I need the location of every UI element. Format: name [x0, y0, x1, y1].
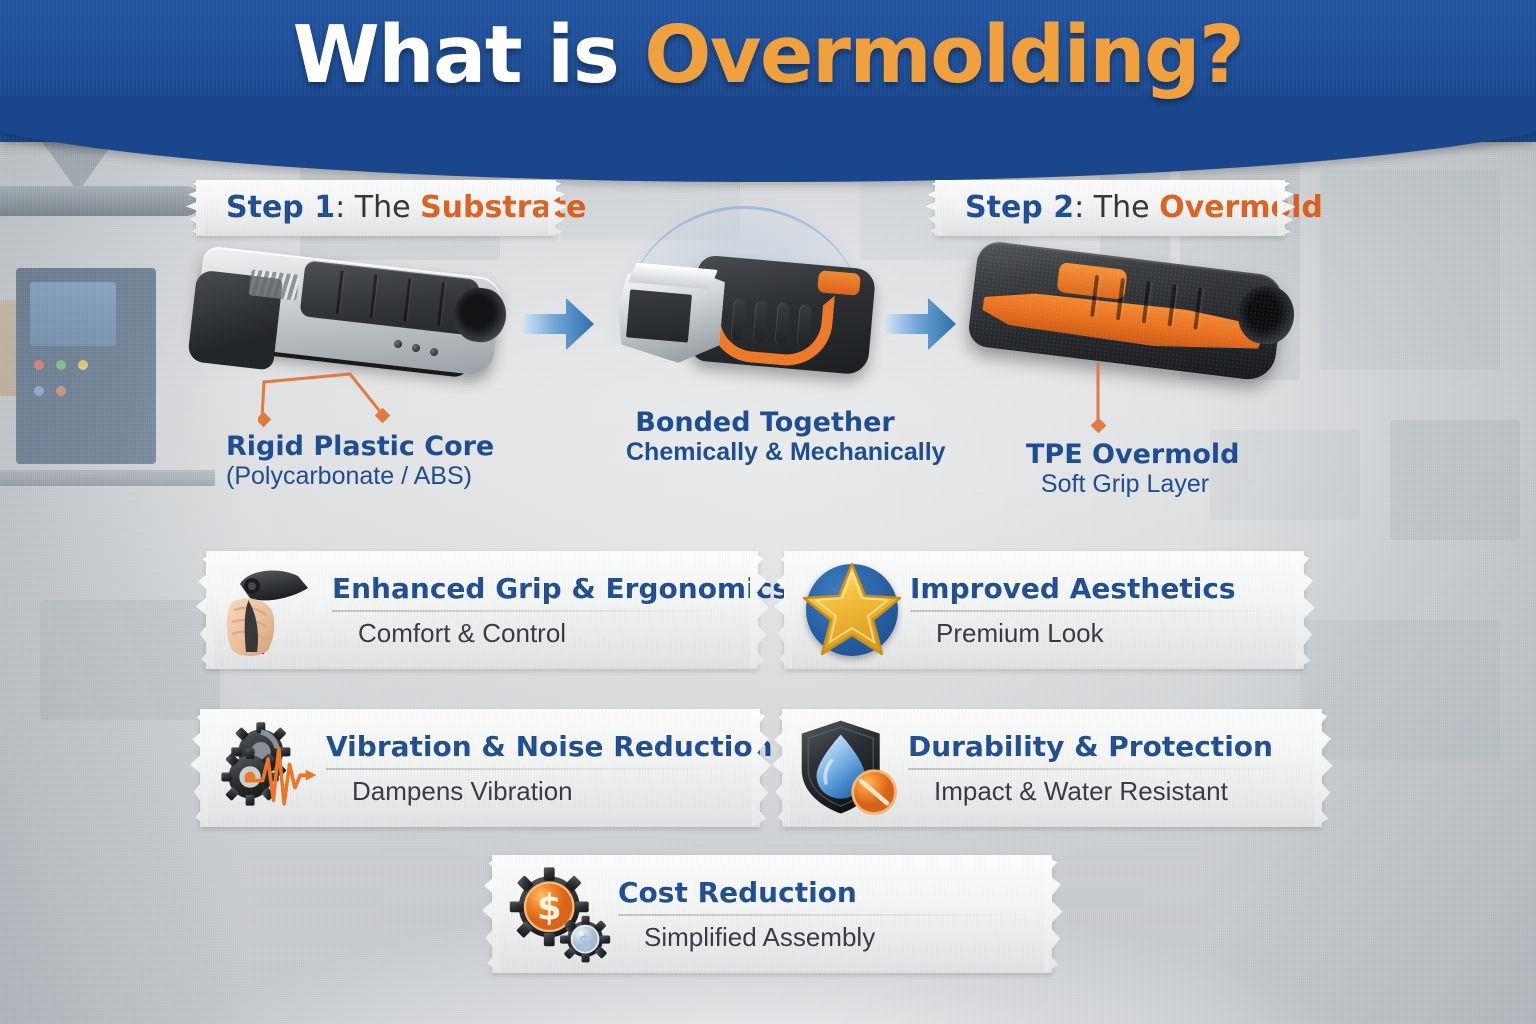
divider [326, 768, 736, 770]
title-part-white: What is [293, 9, 645, 101]
svg-text:$: $ [578, 930, 592, 954]
step-2-header: Step 2: The Overmold [935, 180, 1285, 236]
benefit-card-durability[interactable]: Durability & Protection Impact & Water R… [782, 709, 1322, 827]
benefit-durability-title: Durability & Protection [908, 730, 1298, 763]
overmold-caption: TPE Overmold Soft Grip Layer [1000, 432, 1250, 512]
step-2-number: Step 2 [965, 190, 1074, 225]
step-2-keyword: Overmold [1159, 190, 1323, 225]
benefit-vibration-subtitle: Dampens Vibration [326, 776, 736, 807]
bonded-caption: Bonded Together Chemically & Mechanicall… [600, 400, 930, 480]
substrate-caption-line1: Rigid Plastic Core [226, 432, 464, 462]
step-1-keyword: Substrate [420, 190, 586, 225]
benefit-grip-title: Enhanced Grip & Ergonomics [332, 572, 734, 605]
overmold-caption-line2: Soft Grip Layer [1026, 470, 1224, 500]
bonded-caption-line2: Chemically & Mechanically [626, 438, 904, 468]
step-1-header: Step 1: The Substrate [196, 180, 556, 236]
benefit-grip-subtitle: Comfort & Control [332, 618, 734, 649]
substrate-caption-line2: (Polycarbonate / ABS) [226, 462, 464, 492]
benefit-cost-subtitle: Simplified Assembly [618, 922, 1028, 953]
shield-droplet-icon [798, 716, 902, 820]
benefit-card-grip[interactable]: Enhanced Grip & Ergonomics Comfort & Con… [206, 551, 758, 669]
title-part-orange: Overmolding? [644, 9, 1243, 101]
benefit-card-aesthetics[interactable]: Improved Aesthetics Premium Look [784, 551, 1304, 669]
benefit-cost-title: Cost Reduction [618, 876, 1028, 909]
divider [910, 610, 1280, 612]
step-1-number: Step 1 [226, 190, 335, 225]
benefit-card-vibration[interactable]: Vibration & Noise Reduction Dampens Vibr… [200, 709, 760, 827]
star-icon [800, 558, 904, 662]
benefit-card-cost[interactable]: $ $ [492, 855, 1052, 973]
divider [908, 768, 1298, 770]
benefit-vibration-title: Vibration & Noise Reduction [326, 730, 736, 763]
hand-grip-icon [222, 558, 326, 662]
bonded-product-image [612, 246, 892, 382]
bonded-caption-line1: Bonded Together [626, 408, 904, 438]
divider [618, 914, 1028, 916]
gear-waveform-icon [216, 716, 320, 820]
page-title: What is Overmolding? [0, 14, 1536, 97]
svg-text:$: $ [537, 887, 562, 928]
substrate-caption: Rigid Plastic Core (Polycarbonate / ABS) [200, 424, 490, 504]
arrow-right-icon-2 [886, 296, 958, 357]
benefit-aesthetics-title: Improved Aesthetics [910, 572, 1280, 605]
step-1-connector: : The [335, 190, 420, 225]
overmold-product-image [972, 248, 1290, 380]
arrow-right-icon-1 [524, 296, 596, 357]
benefit-aesthetics-subtitle: Premium Look [910, 618, 1280, 649]
substrate-product-image [198, 248, 504, 378]
gear-coin-icon: $ $ [508, 862, 612, 966]
infographic-canvas: What is Overmolding? Step 1: The Substra… [0, 0, 1536, 1024]
overmold-caption-line1: TPE Overmold [1026, 440, 1224, 470]
divider [332, 610, 734, 612]
benefit-durability-subtitle: Impact & Water Resistant [908, 776, 1298, 807]
step-2-connector: : The [1074, 190, 1159, 225]
